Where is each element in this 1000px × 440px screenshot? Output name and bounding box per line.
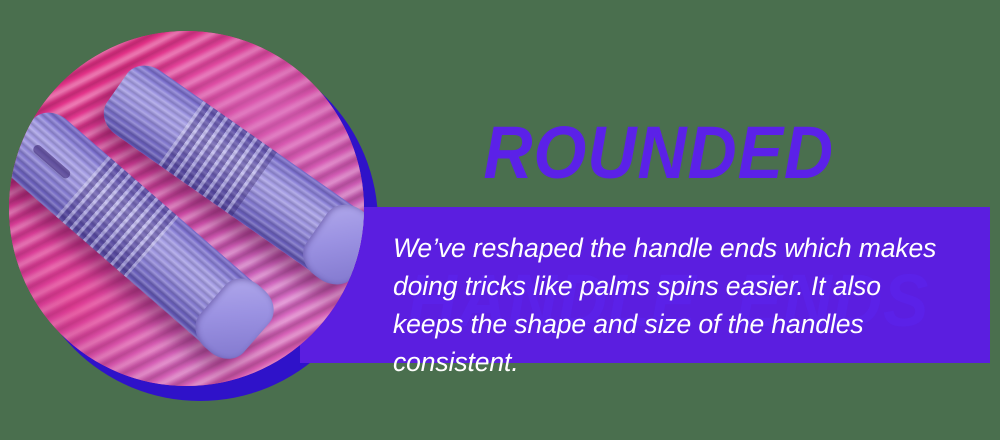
product-photo [9, 31, 364, 386]
product-photo-circle [9, 31, 364, 386]
heading-line-1: ROUNDED [483, 111, 834, 194]
feature-description: We’ve reshaped the handle ends which mak… [393, 229, 953, 381]
feature-card: ROUNDED HANDLE ENDS We’ve reshaped the h… [0, 0, 1000, 440]
